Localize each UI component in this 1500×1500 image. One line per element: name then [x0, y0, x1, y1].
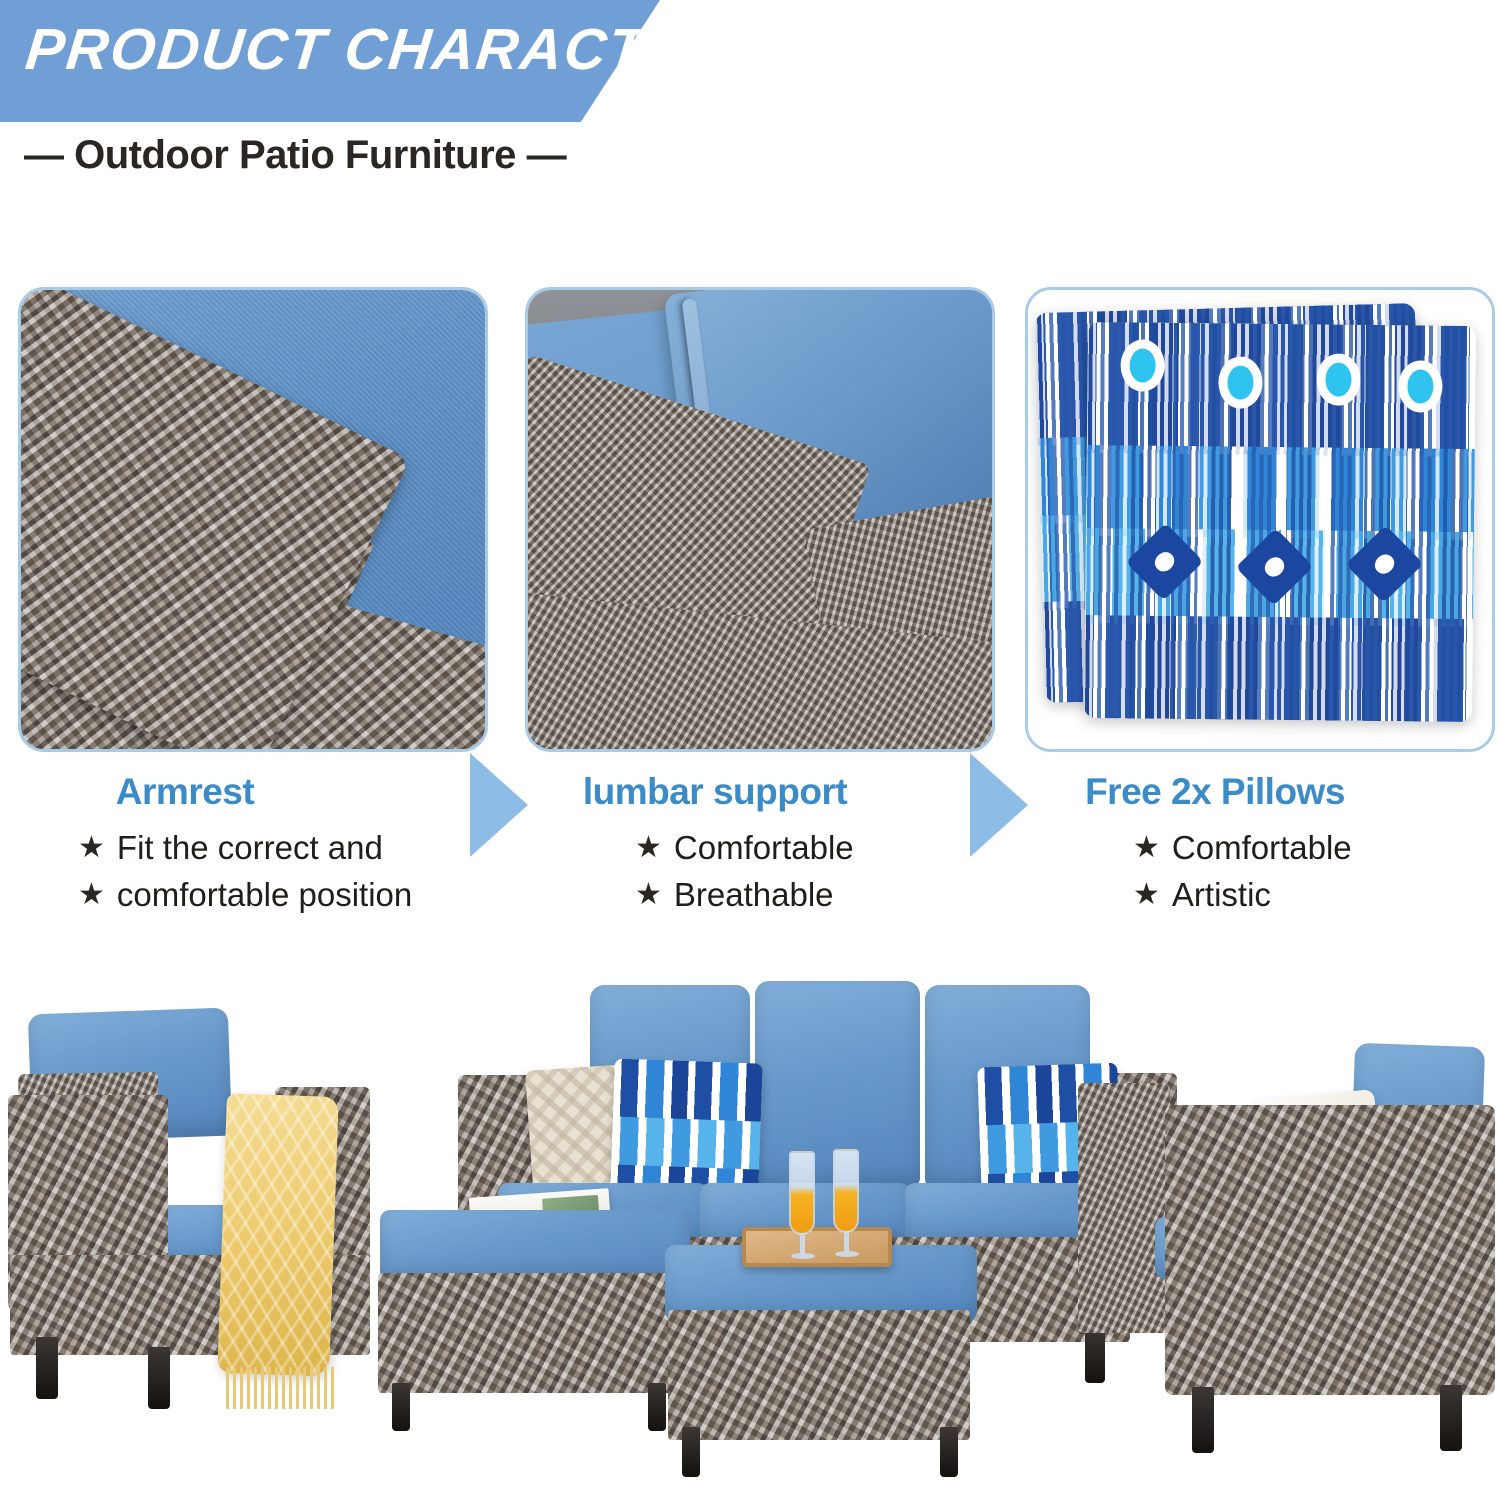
- right-chair-far-arm: [1078, 1083, 1170, 1333]
- right-chair-near-arm: [1165, 1105, 1495, 1395]
- armrest-photo: [21, 290, 485, 749]
- caption-title-free-pillows: Free 2x Pillows: [1005, 772, 1500, 813]
- ottoman-left-frame: [378, 1273, 678, 1393]
- bullet-text: Comfortable: [1172, 825, 1352, 872]
- ottoman-left-leg-1: [392, 1383, 410, 1431]
- sofa-leg-right: [1085, 1327, 1105, 1383]
- caption-free-pillows: Free 2x Pillows ★ Comfortable ★ Artistic: [1005, 772, 1500, 918]
- ikat-pillow-front: [1084, 322, 1476, 722]
- orange-juice-glass-2: [833, 1149, 859, 1233]
- orange-juice-glass-1: [789, 1151, 815, 1235]
- page-subtitle: — Outdoor Patio Furniture —: [24, 133, 566, 178]
- ottoman-right-frame: [668, 1310, 970, 1440]
- throw-blanket-fringe: [226, 1367, 334, 1409]
- feature-card-free-pillows[interactable]: [1025, 287, 1495, 752]
- glass-foot-1: [791, 1253, 815, 1259]
- arrow-right-icon-2: [970, 753, 1028, 857]
- bullet-item: ★ Comfortable: [1005, 825, 1500, 872]
- star-icon: ★: [635, 827, 662, 870]
- bullet-text: Fit the correct and: [117, 825, 383, 872]
- star-icon: ★: [78, 874, 105, 917]
- lumbar-support-photo: [528, 290, 992, 749]
- page-title: PRODUCT CHARACTER: [22, 16, 733, 83]
- caption-title-armrest: Armrest: [0, 772, 500, 813]
- bullet-list-lumbar-support: ★ Comfortable ★ Breathable: [505, 825, 1005, 919]
- subtitle-dash-left: —: [24, 133, 64, 177]
- caption-lumbar-support: lumbar support ★ Comfortable ★ Breathabl…: [505, 772, 1005, 918]
- bullet-item: ★ Fit the correct and: [0, 825, 500, 872]
- right-chair-leg-back: [1440, 1385, 1462, 1451]
- wooden-serving-tray: [742, 1227, 892, 1267]
- subtitle-text: Outdoor Patio Furniture: [74, 133, 516, 177]
- bullet-item: ★ Comfortable: [505, 825, 1005, 872]
- glass-stem-1: [800, 1233, 805, 1255]
- star-icon: ★: [1133, 827, 1160, 870]
- glass-stem-2: [844, 1231, 849, 1253]
- caption-armrest: Armrest ★ Fit the correct and ★ comforta…: [0, 772, 500, 918]
- subtitle-dash-right: —: [527, 133, 567, 177]
- glass-foot-2: [835, 1251, 859, 1257]
- feature-card-row: [18, 287, 1488, 752]
- right-chair-leg-front: [1192, 1387, 1214, 1453]
- ikat-band-mid-2: [1084, 444, 1476, 540]
- hero-product-photo: [0, 955, 1500, 1500]
- ottoman-left-cushion: [380, 1210, 690, 1282]
- left-chair-leg-front: [36, 1337, 58, 1399]
- bullet-list-free-pillows: ★ Comfortable ★ Artistic: [1005, 825, 1500, 919]
- left-chair-leg-back: [148, 1347, 170, 1409]
- feature-captions: Armrest ★ Fit the correct and ★ comforta…: [0, 772, 1500, 932]
- bullet-text: Artistic: [1172, 872, 1271, 919]
- ottoman-right-leg-1: [682, 1427, 700, 1477]
- bullet-text: Breathable: [674, 872, 834, 919]
- bullet-text: comfortable position: [117, 872, 412, 919]
- infographic-page: PRODUCT CHARACTER — Outdoor Patio Furnit…: [0, 0, 1500, 1500]
- feature-card-armrest[interactable]: [18, 287, 488, 752]
- feature-card-lumbar-support[interactable]: [525, 287, 995, 752]
- bullet-item: ★ comfortable position: [0, 872, 500, 919]
- yellow-throw-blanket: [217, 1093, 339, 1377]
- arrow-right-icon-1: [470, 753, 528, 857]
- ottoman-right-leg-2: [940, 1427, 958, 1477]
- ottoman-left-leg-2: [648, 1383, 666, 1431]
- bullet-list-armrest: ★ Fit the correct and ★ comfortable posi…: [0, 825, 500, 919]
- caption-title-lumbar-support: lumbar support: [505, 772, 1005, 813]
- pillows-photo: [1028, 290, 1492, 749]
- bullet-item: ★ Breathable: [505, 872, 1005, 919]
- star-icon: ★: [78, 827, 105, 870]
- ikat-band-dark-bottom-2: [1084, 615, 1476, 722]
- bullet-item: ★ Artistic: [1005, 872, 1500, 919]
- star-icon: ★: [1133, 874, 1160, 917]
- star-icon: ★: [635, 874, 662, 917]
- bullet-text: Comfortable: [674, 825, 854, 872]
